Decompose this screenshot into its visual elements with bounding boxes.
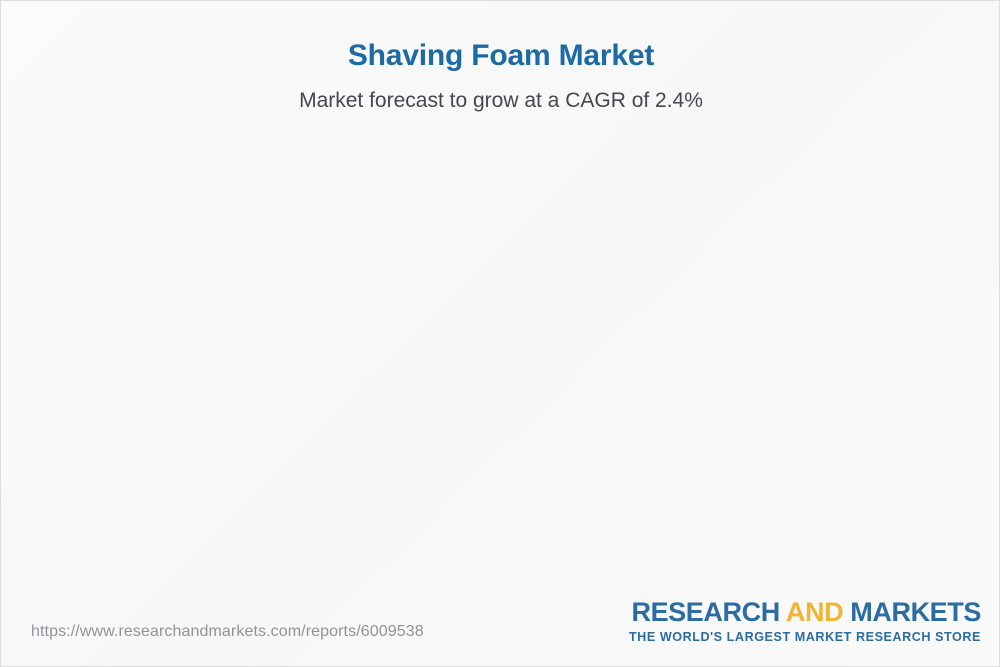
plot-area: USD 534.6 Million — [1, 1, 1000, 601]
brand-word-markets: MARKETS — [850, 597, 981, 627]
brand-wordmark: RESEARCH AND MARKETS — [629, 599, 981, 626]
source-url[interactable]: https://www.researchandmarkets.com/repor… — [31, 623, 424, 641]
brand-tagline: THE WORLD'S LARGEST MARKET RESEARCH STOR… — [629, 631, 981, 644]
brand-word-and: AND — [786, 597, 850, 627]
chart-canvas: Shaving Foam Market Market forecast to g… — [0, 0, 1000, 667]
brand-logo[interactable]: RESEARCH AND MARKETS THE WORLD'S LARGEST… — [629, 599, 981, 644]
brand-word-research: RESEARCH — [631, 597, 785, 627]
